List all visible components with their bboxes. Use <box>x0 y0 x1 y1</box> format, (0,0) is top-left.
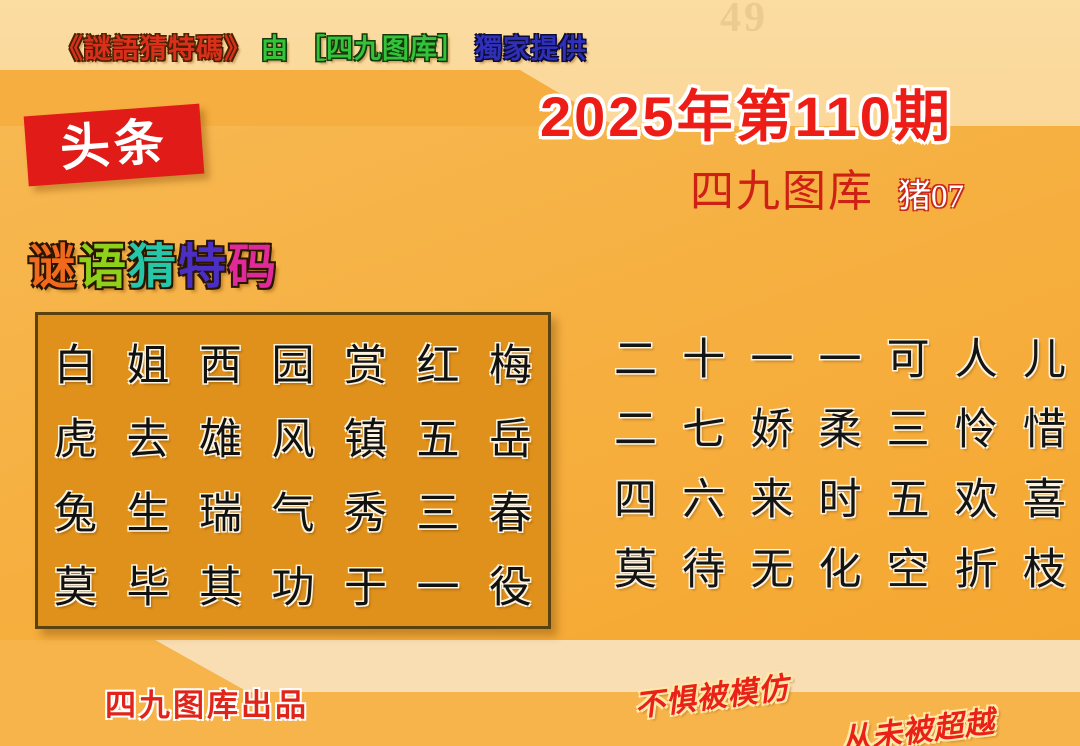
riddle-line: 白 姐 西 园 赏 红 梅 <box>54 329 532 403</box>
poem-char: 折 <box>955 535 998 605</box>
poem-char: 儿 <box>1023 325 1066 395</box>
poem-char: 二 <box>614 325 657 395</box>
section-heading-char-2: 语 <box>78 243 126 293</box>
poem-line: 二 十 一 一 可 人 儿 <box>614 325 1066 395</box>
poem-char: 怜 <box>955 395 998 465</box>
riddle-char: 役 <box>489 551 532 625</box>
riddle-char: 红 <box>417 329 460 403</box>
riddle-char: 虎 <box>54 403 97 477</box>
riddle-char: 于 <box>344 551 387 625</box>
riddle-char: 春 <box>489 477 532 551</box>
poem-char: 空 <box>887 535 930 605</box>
brand-name: 四九图库 <box>690 170 874 214</box>
riddle-char: 秀 <box>344 477 387 551</box>
riddle-char: 生 <box>127 477 170 551</box>
riddle-char: 五 <box>417 403 460 477</box>
riddle-char: 梅 <box>489 329 532 403</box>
poem-char: 十 <box>682 325 725 395</box>
riddle-char: 园 <box>272 329 315 403</box>
poem-char: 人 <box>955 325 998 395</box>
poem-char: 枝 <box>1023 535 1066 605</box>
riddle-char: 赏 <box>344 329 387 403</box>
riddle-line: 虎 去 雄 风 镇 五 岳 <box>54 403 532 477</box>
header-by-label: 由 <box>261 27 289 66</box>
riddle-line: 莫 毕 其 功 于 一 役 <box>54 551 532 625</box>
poem-char: 惜 <box>1023 395 1066 465</box>
headline-badge: 头条 <box>24 104 205 187</box>
riddle-char: 去 <box>127 403 170 477</box>
riddle-char: 其 <box>199 551 242 625</box>
poem-char: 来 <box>750 465 793 535</box>
issue-title: 2025年第110期 <box>540 72 953 153</box>
header-tagline: 《謎語猜特碼》 由 ［四九图库］ 獨家提供 <box>56 27 587 66</box>
poster-canvas: 49 《謎語猜特碼》 由 ［四九图库］ 獨家提供 头条 2025年第110期 四… <box>0 0 1080 746</box>
riddle-char: 姐 <box>127 329 170 403</box>
poem-line: 四 六 来 时 五 欢 喜 <box>614 465 1066 535</box>
header-title-quoted: 《謎語猜特碼》 <box>56 27 252 66</box>
riddle-line: 兔 生 瑞 气 秀 三 春 <box>54 477 532 551</box>
poem-char: 时 <box>818 465 861 535</box>
riddle-box: 白 姐 西 园 赏 红 梅 虎 去 雄 风 镇 五 岳 兔 生 瑞 气 秀 三 … <box>35 312 551 629</box>
riddle-char: 镇 <box>344 403 387 477</box>
riddle-char: 一 <box>417 551 460 625</box>
riddle-char: 瑞 <box>199 477 242 551</box>
watermark-text: 49 <box>720 0 768 42</box>
poem-block: 二 十 一 一 可 人 儿 二 七 娇 柔 三 怜 惜 四 六 来 时 五 欢 … <box>614 325 1066 605</box>
riddle-char: 白 <box>54 329 97 403</box>
poem-char: 一 <box>818 325 861 395</box>
poem-char: 二 <box>614 395 657 465</box>
riddle-char: 莫 <box>54 551 97 625</box>
section-heading-char-1: 谜 <box>28 243 76 293</box>
riddle-char: 功 <box>272 551 315 625</box>
zodiac-badge: 猪07 <box>898 181 964 214</box>
header-exclusive-label: 獨家提供 <box>475 27 587 66</box>
poem-char: 待 <box>682 535 725 605</box>
poem-char: 莫 <box>614 535 657 605</box>
poem-char: 五 <box>887 465 930 535</box>
poem-char: 化 <box>818 535 861 605</box>
headline-badge-label: 头条 <box>58 116 169 174</box>
riddle-char: 气 <box>272 477 315 551</box>
riddle-char: 雄 <box>199 403 242 477</box>
footer-brand: 四九图库出品 <box>105 680 309 725</box>
riddle-char: 西 <box>199 329 242 403</box>
poem-char: 一 <box>750 325 793 395</box>
poem-char: 欢 <box>955 465 998 535</box>
riddle-char: 三 <box>417 477 460 551</box>
poem-char: 三 <box>887 395 930 465</box>
poem-char: 四 <box>614 465 657 535</box>
section-heading-char-5: 码 <box>228 243 276 293</box>
poem-char: 七 <box>682 395 725 465</box>
riddle-char: 风 <box>272 403 315 477</box>
poem-char: 无 <box>750 535 793 605</box>
poem-char: 可 <box>887 325 930 395</box>
section-heading-char-4: 特 <box>178 243 226 293</box>
section-heading-char-3: 猜 <box>128 243 176 293</box>
brand-row: 四九图库 猪07 <box>690 170 964 214</box>
poem-line: 二 七 娇 柔 三 怜 惜 <box>614 395 1066 465</box>
section-heading: 谜 语 猜 特 码 <box>28 243 276 293</box>
riddle-char: 毕 <box>127 551 170 625</box>
riddle-char: 岳 <box>489 403 532 477</box>
poem-char: 柔 <box>818 395 861 465</box>
header-source-bracketed: ［四九图库］ <box>298 27 466 66</box>
poem-char: 娇 <box>750 395 793 465</box>
poem-line: 莫 待 无 化 空 折 枝 <box>614 535 1066 605</box>
riddle-char: 兔 <box>54 477 97 551</box>
poem-char: 六 <box>682 465 725 535</box>
poem-char: 喜 <box>1023 465 1066 535</box>
